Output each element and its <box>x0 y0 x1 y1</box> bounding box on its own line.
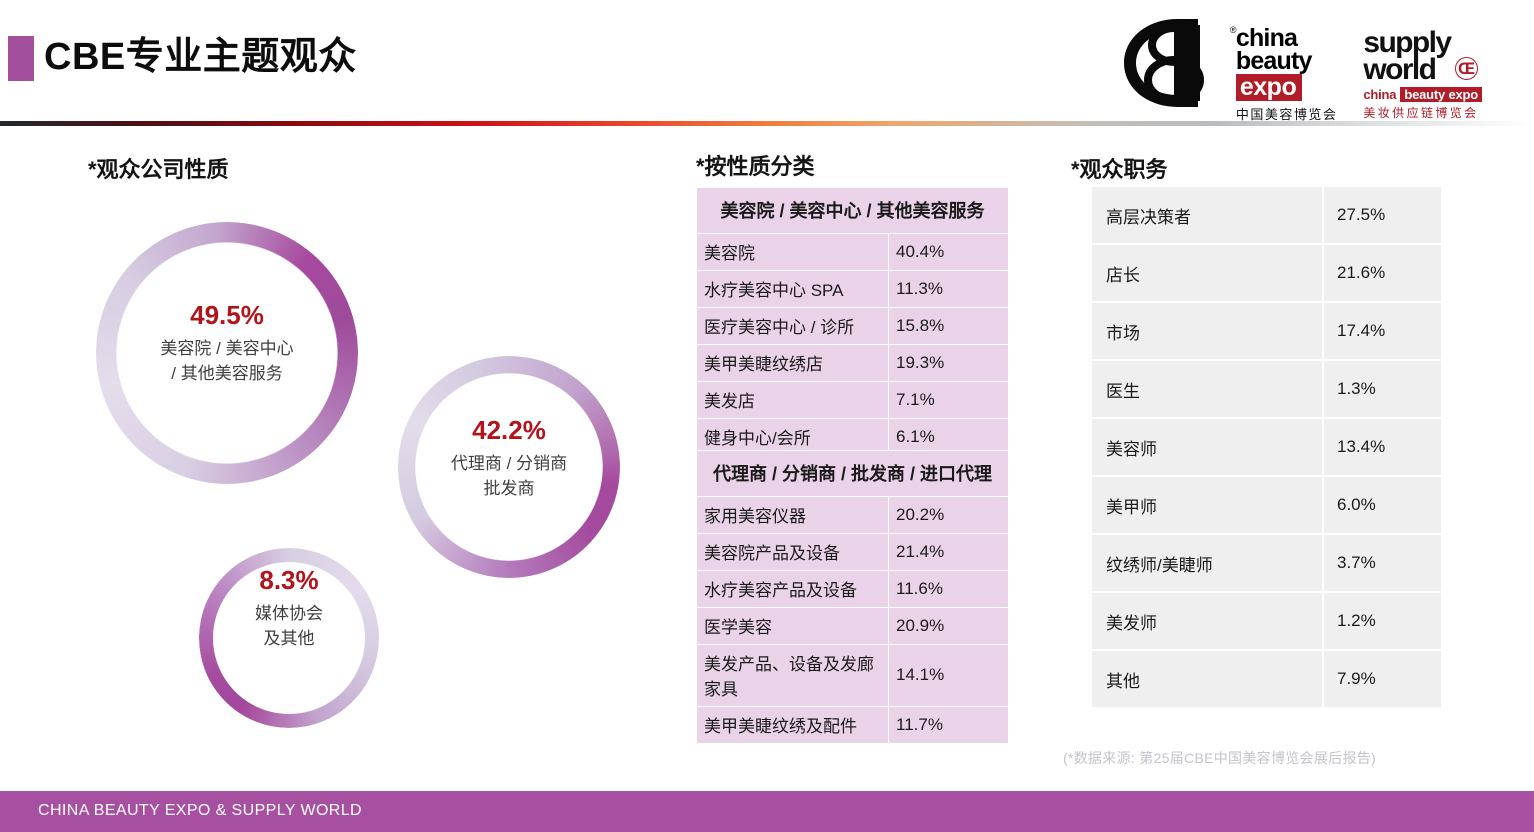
table-agent-distributor: 代理商 / 分销商 / 批发商 / 进口代理 家用美容仪器20.2% 美容院产品… <box>696 450 1009 744</box>
sw-ce-monogram-icon: Œ <box>1455 57 1478 80</box>
row-label: 美发产品、设备及发廊家具 <box>697 645 889 707</box>
row-label: 美发店 <box>697 382 889 419</box>
donut-chart-group: 49.5% 美容院 / 美容中心 / 其他美容服务 42.2% 代理商 / 分销… <box>0 0 680 760</box>
row-label: 美甲美睫纹绣及配件 <box>697 707 889 744</box>
donut-caption-1-line1: 美容院 / 美容中心 <box>160 339 293 358</box>
donut-caption-2-line2: 批发商 <box>484 479 535 498</box>
section-heading-by-nature: *按性质分类 <box>696 149 815 181</box>
table-row: 家用美容仪器20.2% <box>697 497 1009 534</box>
table-row: 市场17.4% <box>1092 302 1441 360</box>
sw-line2: world <box>1363 56 1435 83</box>
row-value: 7.1% <box>889 382 1009 419</box>
donut-percent-3: 8.3% <box>199 565 379 595</box>
donut-percent-2: 42.2% <box>398 415 620 445</box>
donut-label-3: 8.3% 媒体协会 及其他 <box>199 565 379 651</box>
page-footer: CHINA BEAUTY EXPO & SUPPLY WORLD <box>0 791 1534 832</box>
table-row: 美甲美睫纹绣及配件11.7% <box>697 707 1009 744</box>
sw-sub-china: china <box>1363 87 1396 102</box>
row-label: 美甲美睫纹绣店 <box>697 345 889 382</box>
row-value: 1.3% <box>1323 360 1441 418</box>
row-label: 美容院产品及设备 <box>697 534 889 571</box>
table-row: 美容院产品及设备21.4% <box>697 534 1009 571</box>
row-value: 11.6% <box>889 571 1009 608</box>
table-header-row: 美容院 / 美容中心 / 其他美容服务 <box>697 188 1009 234</box>
table-row: 高层决策者27.5% <box>1092 187 1441 244</box>
row-value: 11.3% <box>889 271 1009 308</box>
cbe-expo-badge: expo <box>1236 74 1302 101</box>
logo-group: china beauty expo 中国美容博览会 ® supply world… <box>1120 17 1482 109</box>
row-label: 纹绣师/美睫师 <box>1092 534 1323 592</box>
table-row: 水疗美容产品及设备11.6% <box>697 571 1009 608</box>
row-label: 美容师 <box>1092 418 1323 476</box>
row-label: 美甲师 <box>1092 476 1323 534</box>
donut-caption-2-line1: 代理商 / 分销商 <box>451 454 567 473</box>
table-row: 美甲师6.0% <box>1092 476 1441 534</box>
cbe-monogram-icon <box>1120 17 1232 109</box>
row-label: 美发师 <box>1092 592 1323 650</box>
row-value: 40.4% <box>889 234 1009 271</box>
row-value: 20.2% <box>889 497 1009 534</box>
section-heading-visitor-role: *观众职务 <box>1071 152 1168 184</box>
row-value: 6.0% <box>1323 476 1441 534</box>
table-row: 美发产品、设备及发廊家具14.1% <box>697 645 1009 707</box>
row-value: 3.7% <box>1323 534 1441 592</box>
row-value: 27.5% <box>1323 187 1441 244</box>
donut-caption-3-line1: 媒体协会 <box>255 604 323 623</box>
table-header-cell: 美容院 / 美容中心 / 其他美容服务 <box>697 188 1009 234</box>
row-label: 水疗美容中心 SPA <box>697 271 889 308</box>
table-beauty-salon: 美容院 / 美容中心 / 其他美容服务 美容院40.4% 水疗美容中心 SPA1… <box>696 187 1009 456</box>
row-value: 7.9% <box>1323 650 1441 707</box>
supply-world-logo: supply world Œ china beauty expo 美妆供应链博览… <box>1363 17 1482 121</box>
row-label: 市场 <box>1092 302 1323 360</box>
row-label: 高层决策者 <box>1092 187 1323 244</box>
registered-icon: ® <box>1230 25 1237 35</box>
table-row: 美甲美睫纹绣店19.3% <box>697 345 1009 382</box>
donut-caption-3: 媒体协会 及其他 <box>199 601 379 651</box>
donut-caption-1: 美容院 / 美容中心 / 其他美容服务 <box>96 336 358 386</box>
row-value: 19.3% <box>889 345 1009 382</box>
row-label: 家用美容仪器 <box>697 497 889 534</box>
table-row: 纹绣师/美睫师3.7% <box>1092 534 1441 592</box>
cbe-line2: beauty <box>1236 50 1312 73</box>
table-row: 水疗美容中心 SPA11.3% <box>697 271 1009 308</box>
row-value: 20.9% <box>889 608 1009 645</box>
donut-caption-3-line2: 及其他 <box>264 629 315 648</box>
sw-sub-badge: beauty expo <box>1400 87 1482 102</box>
row-label: 其他 <box>1092 650 1323 707</box>
row-label: 医学美容 <box>697 608 889 645</box>
table-row: 医生1.3% <box>1092 360 1441 418</box>
cbe-wordmark: china beauty expo 中国美容博览会 <box>1236 17 1338 123</box>
row-value: 14.1% <box>889 645 1009 707</box>
sw-subline: china beauty expo <box>1363 87 1482 102</box>
footer-text: CHINA BEAUTY EXPO & SUPPLY WORLD <box>38 802 362 820</box>
table-row: 美容院40.4% <box>697 234 1009 271</box>
donut-caption-1-line2: / 其他美容服务 <box>171 364 282 383</box>
donut-label-1: 49.5% 美容院 / 美容中心 / 其他美容服务 <box>96 300 358 386</box>
table-row: 美发师1.2% <box>1092 592 1441 650</box>
row-label: 医疗美容中心 / 诊所 <box>697 308 889 345</box>
table-header-cell: 代理商 / 分销商 / 批发商 / 进口代理 <box>697 451 1009 497</box>
table-row: 店长21.6% <box>1092 244 1441 302</box>
row-label: 店长 <box>1092 244 1323 302</box>
row-label: 医生 <box>1092 360 1323 418</box>
row-value: 17.4% <box>1323 302 1441 360</box>
source-note: (*数据来源: 第25届CBE中国美容博览会展后报告) <box>1063 748 1376 768</box>
table-visitor-roles: 高层决策者27.5% 店长21.6% 市场17.4% 医生1.3% 美容师13.… <box>1092 187 1441 707</box>
table-row: 医学美容20.9% <box>697 608 1009 645</box>
row-label: 美容院 <box>697 234 889 271</box>
donut-percent-1: 49.5% <box>96 300 358 330</box>
row-value: 11.7% <box>889 707 1009 744</box>
row-label: 水疗美容产品及设备 <box>697 571 889 608</box>
row-value: 21.6% <box>1323 244 1441 302</box>
table-row: 其他7.9% <box>1092 650 1441 707</box>
sw-line1: supply <box>1363 29 1450 56</box>
donut-label-2: 42.2% 代理商 / 分销商 批发商 <box>398 415 620 501</box>
row-value: 21.4% <box>889 534 1009 571</box>
table-row: 美容师13.4% <box>1092 418 1441 476</box>
table-row: 美发店7.1% <box>697 382 1009 419</box>
row-value: 13.4% <box>1323 418 1441 476</box>
cbe-logo: china beauty expo 中国美容博览会 ® <box>1120 17 1338 123</box>
row-value: 15.8% <box>889 308 1009 345</box>
table-row: 医疗美容中心 / 诊所15.8% <box>697 308 1009 345</box>
donut-caption-2: 代理商 / 分销商 批发商 <box>398 451 620 501</box>
row-value: 1.2% <box>1323 592 1441 650</box>
table-header-row: 代理商 / 分销商 / 批发商 / 进口代理 <box>697 451 1009 497</box>
sw-chinese-name: 美妆供应链博览会 <box>1363 104 1478 121</box>
